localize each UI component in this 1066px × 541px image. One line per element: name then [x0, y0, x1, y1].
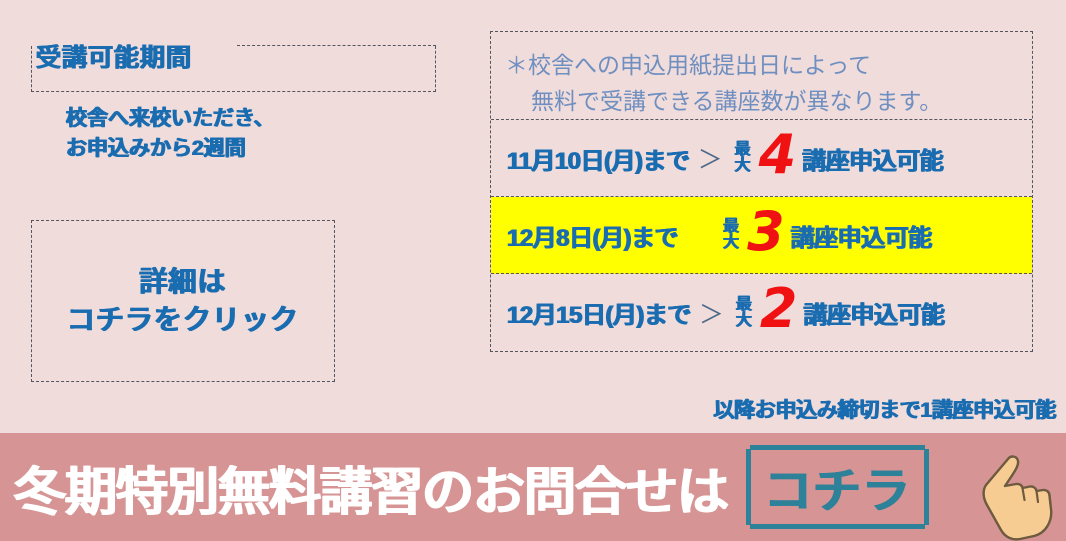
table-row: 11月10日(月)まで ＞ 最 大 4 講座申込可能: [491, 120, 1032, 197]
max-label-bottom: 大: [735, 158, 751, 174]
max-label-top: 最: [723, 219, 739, 235]
table-note-line-1: ＊校舎への申込用紙提出日によって: [505, 53, 871, 78]
period-description: 校舎へ来校いただき、 お申込みから2週間: [66, 104, 275, 164]
contact-banner: 冬期特別無料講習のお問合せは コチラ: [0, 433, 1066, 541]
arrow-icon: ＞: [690, 140, 727, 176]
max-label-top: 最: [736, 297, 752, 313]
details-cta-line-2: コチラをクリック: [67, 301, 299, 339]
arrow-icon: ＞: [691, 295, 728, 331]
deadline-date: 12月8日(月)まで: [507, 218, 678, 253]
period-section-title: 受講可能期間: [36, 38, 192, 74]
max-label-bottom: 大: [736, 313, 752, 329]
contact-cta-button[interactable]: コチラ: [746, 445, 929, 529]
cta-frame-bottom: [750, 524, 925, 529]
course-count: 2: [760, 285, 798, 334]
table-row: 12月15日(月)まで ＞ 最 大 2 講座申込可能: [491, 274, 1032, 351]
cta-frame-top: [750, 445, 925, 450]
course-count-suffix: 講座申込可能: [803, 295, 944, 330]
pointing-hand-icon: [976, 449, 1062, 541]
details-cta-line-1: 詳細は: [139, 263, 226, 301]
course-count: 4: [759, 131, 797, 180]
after-deadline-note: 以降お申込み締切まで1講座申込可能: [713, 394, 1056, 424]
table-note-text: ＊校舎への申込用紙提出日によって 無料で受講できる講座数が異なります。: [505, 48, 1024, 119]
table-note-row: ＊校舎への申込用紙提出日によって 無料で受講できる講座数が異なります。: [491, 32, 1032, 120]
course-count-suffix: 講座申込可能: [802, 141, 943, 176]
max-label-top: 最: [735, 142, 751, 158]
max-label-bottom: 大: [723, 235, 739, 251]
poster-root: 受講可能期間 校舎へ来校いただき、 お申込みから2週間 詳細は コチラをクリック…: [0, 0, 1066, 541]
left-column: 受講可能期間 校舎へ来校いただき、 お申込みから2週間 詳細は コチラをクリック: [0, 0, 470, 430]
period-description-line-2: お申込みから2週間: [66, 134, 275, 164]
deadline-date: 11月10日(月)まで: [507, 141, 690, 176]
cta-frame-right: [924, 449, 929, 525]
cta-frame-left: [746, 449, 751, 525]
course-count-suffix: 講座申込可能: [791, 218, 932, 253]
banner-headline: 冬期特別無料講習のお問合せは: [14, 450, 728, 525]
period-description-line-1: 校舎へ来校いただき、: [66, 104, 275, 134]
table-row: 12月8日(月)まで ＞ 最 大 3 講座申込可能: [491, 197, 1032, 274]
deadline-date: 12月15日(月)まで: [507, 295, 691, 330]
max-label: 最 大: [735, 142, 751, 174]
max-label: 最 大: [736, 297, 752, 329]
table-note-line-2: 無料で受講できる講座数が異なります。: [505, 84, 1024, 120]
application-deadline-table: ＊校舎への申込用紙提出日によって 無料で受講できる講座数が異なります。 11月1…: [490, 31, 1033, 352]
details-cta-box[interactable]: 詳細は コチラをクリック: [31, 220, 335, 382]
course-count: 3: [747, 208, 785, 257]
max-label: 最 大: [723, 219, 739, 251]
cta-button-label: コチラ: [764, 465, 911, 518]
